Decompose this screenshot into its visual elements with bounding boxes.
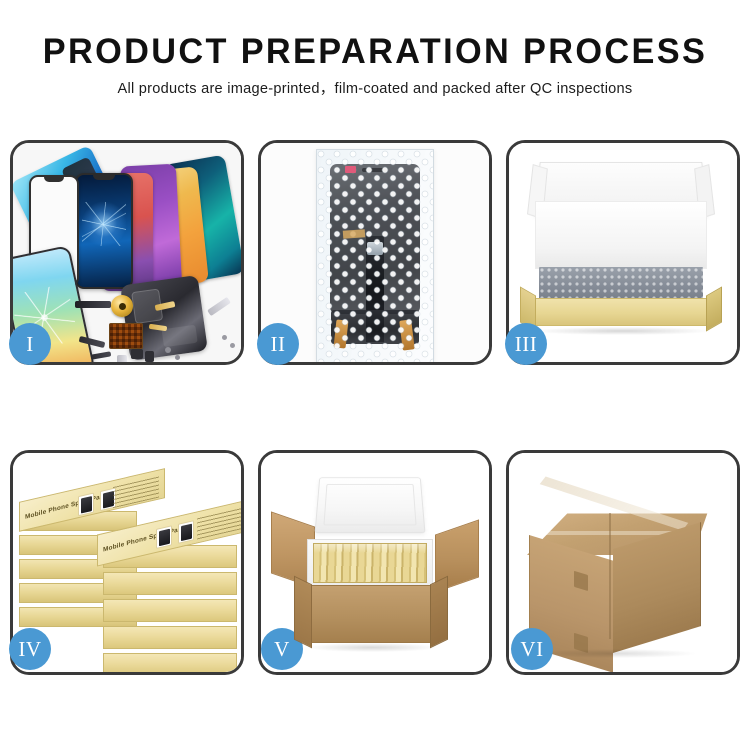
process-step-panel-6[interactable]: VI [506,450,740,675]
step-badge-1: I [9,323,51,365]
carton-shadow [307,643,437,652]
carton-body [305,585,437,643]
small-part-screw-a [165,347,171,353]
bubble-wrap-bag [316,149,434,362]
step-badge-6: VI [511,628,553,670]
sealed-carton-shadow [537,649,695,658]
step-badge-4: IV [9,628,51,670]
carton-with-foam-liner-illustration [261,453,489,672]
header: PRODUCT PREPARATION PROCESS All products… [0,0,750,97]
box-edge-right-2 [103,572,237,595]
carton-vertical-seam [609,513,611,639]
phone-parts-collage-illustration [13,143,241,362]
process-step-panel-4[interactable]: Mobile Phone Spare Parts Mobile Phone Sp… [10,450,244,675]
step-badge-2: II [257,323,299,365]
box-stack: Mobile Phone Spare Parts Mobile Phone Sp… [17,467,241,672]
process-step-panel-5[interactable]: V [258,450,492,675]
foam-lid [314,477,425,533]
box-edge-right-4 [103,626,237,649]
gold-boxes-inside [313,543,427,583]
panel-2-image [261,143,489,362]
box-spec-lines-front [197,507,241,540]
process-step-panel-2[interactable]: II [258,140,492,365]
small-part-dark-a [131,349,143,359]
flex-ribbon-part [75,301,111,308]
qc-sticker [345,166,356,173]
white-foam-sheet [535,201,707,269]
panel-3-image [509,143,737,362]
panel-5-image [261,453,489,672]
bubble-wrapped-screen-illustration [261,143,489,362]
panel-1-image [13,143,241,362]
small-part-screw-b [175,355,180,360]
small-part-screw-c [222,335,227,340]
process-step-panel-3[interactable]: III [506,140,740,365]
box-edge-right-3 [103,599,237,622]
small-part-dark-b [145,351,154,362]
gold-tray-front [531,298,711,326]
phone-front-cracked-blue [75,173,133,289]
box-spec-lines-back [113,476,159,509]
adhesive-tape [343,229,366,239]
bubble-texture [317,150,433,362]
small-part-screw-d [230,343,235,348]
grey-bubble-padding [539,267,703,301]
box-edge-right-5 [103,653,237,672]
small-part-flex-b [91,351,112,359]
process-steps-grid: I II [10,140,740,675]
box-thumbnail-front-a [156,525,172,549]
ic-chip-part [109,323,143,349]
process-step-panel-1[interactable]: I [10,140,244,365]
tray-shadow [535,327,709,335]
box-thumbnail-front-b [178,520,194,544]
product-preparation-infographic: PRODUCT PREPARATION PROCESS All products… [0,0,750,750]
page-subtitle: All products are image-printed，film-coat… [0,82,750,97]
phone-notch [93,175,115,180]
box-thumbnail-back-a [78,493,94,517]
small-part-silver-a [117,355,127,362]
page-title: PRODUCT PREPARATION PROCESS [8,34,743,69]
step-badge-3: III [505,323,547,365]
foam-lined-gold-tray-illustration [509,143,737,362]
gold-coil-part [111,295,133,317]
tweezers-tool [207,297,231,316]
